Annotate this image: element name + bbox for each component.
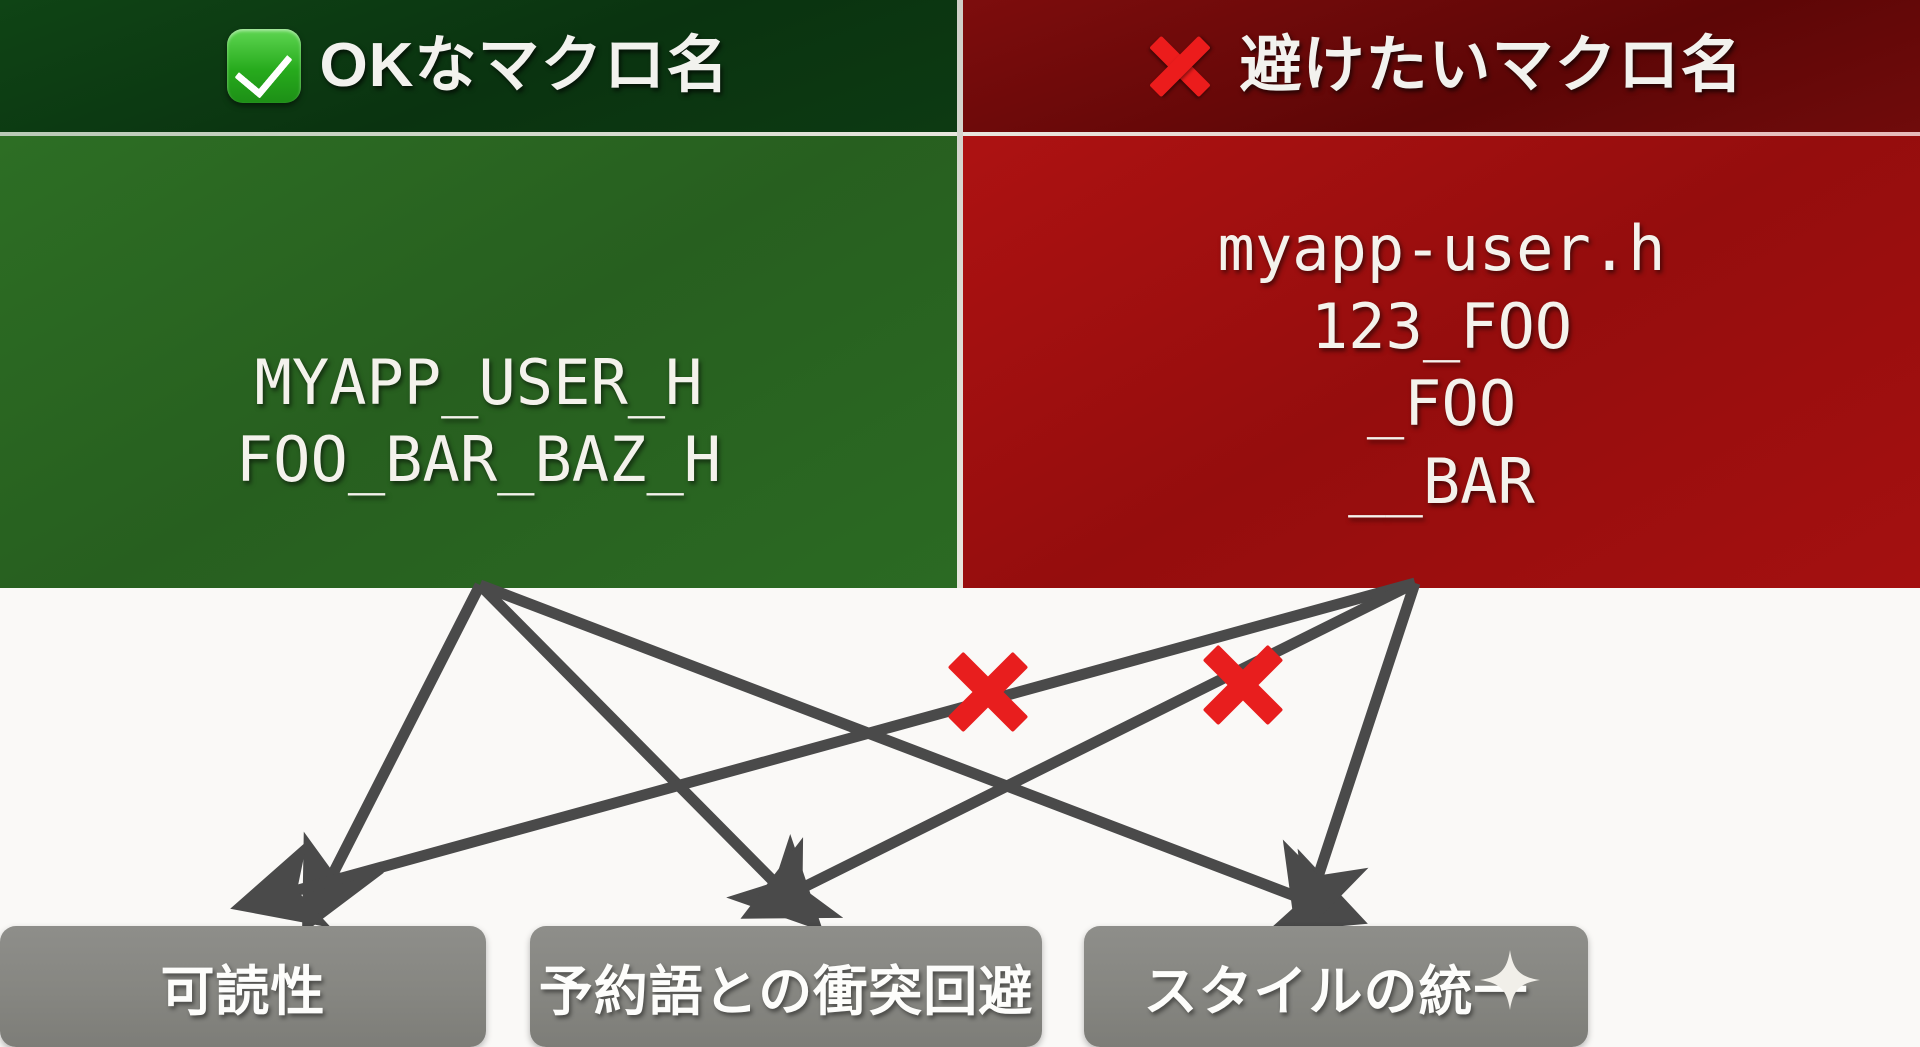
- column-ok-list: MYAPP_USER_H FOO_BAR_BAZ_H: [236, 344, 721, 499]
- arrow-avoid-to-readability: [262, 583, 1415, 900]
- column-ok-header: OKなマクロ名: [0, 0, 957, 132]
- macro-name-item: 123_FOO: [1218, 288, 1666, 366]
- column-ok-title: OKなマクロ名: [319, 35, 729, 97]
- criteria-box-reserved-word-collision[interactable]: 予約語との衝突回避: [530, 926, 1042, 1047]
- macro-name-item: FOO_BAR_BAZ_H: [236, 421, 721, 499]
- arrow-group-avoid: [262, 583, 1415, 910]
- criteria-label: 可読性: [161, 947, 326, 1026]
- column-avoid-list: myapp-user.h 123_FOO _FOO __BAR: [1218, 210, 1666, 520]
- arrow-avoid-to-reserved: [770, 583, 1415, 904]
- column-ok: OKなマクロ名 MYAPP_USER_H FOO_BAR_BAZ_H: [0, 0, 957, 588]
- arrow-ok-to-reserved: [480, 585, 800, 908]
- macro-naming-comparison-slide: OKなマクロ名 MYAPP_USER_H FOO_BAR_BAZ_H 避けたいマ…: [0, 0, 1920, 1047]
- column-divider: [957, 0, 963, 588]
- macro-name-item: MYAPP_USER_H: [236, 344, 721, 422]
- cross-mark-icon: [1139, 25, 1221, 107]
- macro-name-item: __BAR: [1218, 443, 1666, 521]
- criteria-box-style-consistency[interactable]: スタイルの統一: [1084, 926, 1588, 1047]
- criteria-box-readability[interactable]: 可読性: [0, 926, 486, 1047]
- column-avoid-title: 避けたいマクロ名: [1239, 35, 1743, 97]
- column-avoid-body: myapp-user.h 123_FOO _FOO __BAR: [963, 136, 1920, 588]
- column-avoid-header: 避けたいマクロ名: [963, 0, 1920, 132]
- comparison-table: OKなマクロ名 MYAPP_USER_H FOO_BAR_BAZ_H 避けたいマ…: [0, 0, 1920, 588]
- criteria-label: 予約語との衝突回避: [539, 947, 1033, 1026]
- macro-name-item: _FOO: [1218, 365, 1666, 443]
- column-ok-body: MYAPP_USER_H FOO_BAR_BAZ_H: [0, 136, 957, 588]
- criteria-boxes: 可読性 予約語との衝突回避 スタイルの統一: [0, 926, 1920, 1047]
- criteria-label: スタイルの統一: [1144, 947, 1529, 1026]
- column-avoid: 避けたいマクロ名 myapp-user.h 123_FOO _FOO __BAR: [963, 0, 1920, 588]
- macro-name-item: myapp-user.h: [1218, 210, 1666, 288]
- arrow-ok-to-style: [480, 585, 1337, 912]
- check-mark-badge-icon: [227, 29, 301, 103]
